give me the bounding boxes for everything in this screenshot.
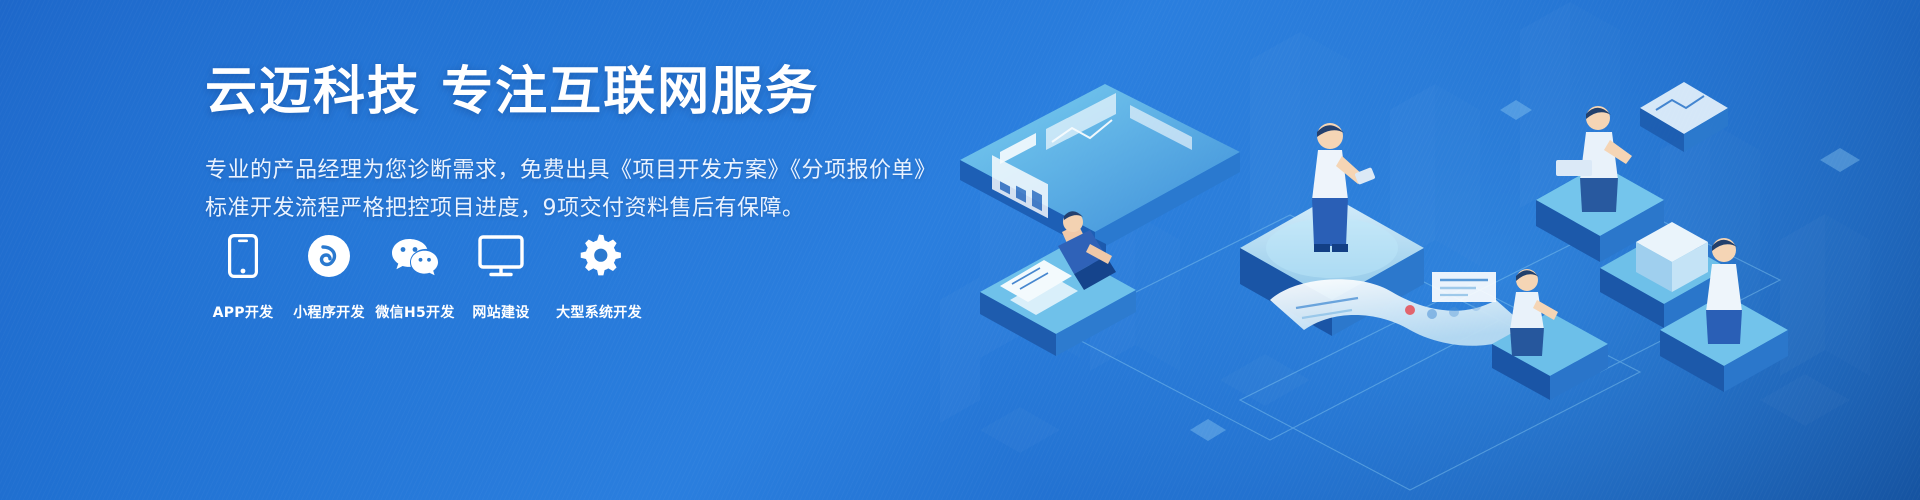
service-item-miniprogram[interactable]: 小程序开发 xyxy=(286,232,372,322)
wechat-icon xyxy=(391,232,439,280)
subtitle-line-1: 专业的产品经理为您诊断需求，免费出具《项目开发方案》《分项报价单》 xyxy=(205,153,937,189)
monitor-icon xyxy=(478,232,524,280)
service-label: 网站建设 xyxy=(472,302,529,322)
page-title: 云迈科技 专注互联网服务 xyxy=(205,62,937,123)
isometric-illustration xyxy=(940,0,1920,500)
hero-text-block: 云迈科技 专注互联网服务 专业的产品经理为您诊断需求，免费出具《项目开发方案》《… xyxy=(205,62,937,229)
gear-icon xyxy=(577,232,621,280)
service-item-website[interactable]: 网站建设 xyxy=(458,232,544,322)
service-label: 大型系统开发 xyxy=(556,302,642,322)
service-item-app[interactable]: APP开发 xyxy=(200,232,286,322)
service-item-large-system[interactable]: 大型系统开发 xyxy=(544,232,654,322)
mini-program-icon xyxy=(307,232,351,280)
mobile-phone-icon xyxy=(228,232,258,280)
service-item-wechat-h5[interactable]: 微信H5开发 xyxy=(372,232,458,322)
service-label: 小程序开发 xyxy=(293,302,365,322)
service-list: APP开发 小程序开发 微信 xyxy=(200,232,654,322)
hero-subtitle: 专业的产品经理为您诊断需求，免费出具《项目开发方案》《分项报价单》 标准开发流程… xyxy=(205,153,937,226)
service-label: APP开发 xyxy=(213,302,274,322)
subtitle-line-2: 标准开发流程严格把控项目进度，9项交付资料售后有保障。 xyxy=(205,191,937,227)
service-label: 微信H5开发 xyxy=(375,302,454,322)
hero-banner: 云迈科技 专注互联网服务 专业的产品经理为您诊断需求，免费出具《项目开发方案》《… xyxy=(0,0,1920,500)
